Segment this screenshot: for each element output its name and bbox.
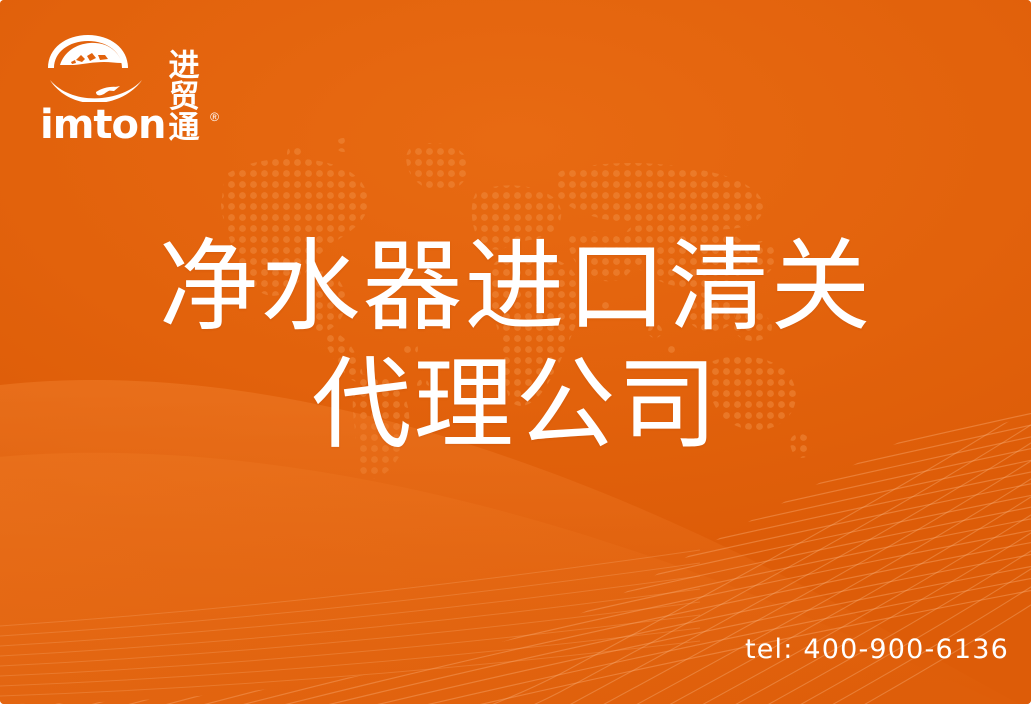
registered-trademark-icon: ®: [210, 111, 219, 123]
promo-banner: imton 进贸通 ® 净水器进口清关 代理公司 tel: 400-900-61…: [0, 0, 1031, 704]
logo-chinese-name: 进贸通: [168, 51, 208, 144]
logo-wordmark: imton: [40, 105, 165, 145]
brand-logo[interactable]: imton 进贸通 ®: [40, 30, 220, 102]
headline-line-1: 净水器进口清关: [0, 228, 1031, 346]
page-title: 净水器进口清关 代理公司: [0, 228, 1031, 464]
contact-phone[interactable]: tel: 400-900-6136: [745, 634, 1009, 665]
headline-line-2: 代理公司: [0, 346, 1031, 464]
